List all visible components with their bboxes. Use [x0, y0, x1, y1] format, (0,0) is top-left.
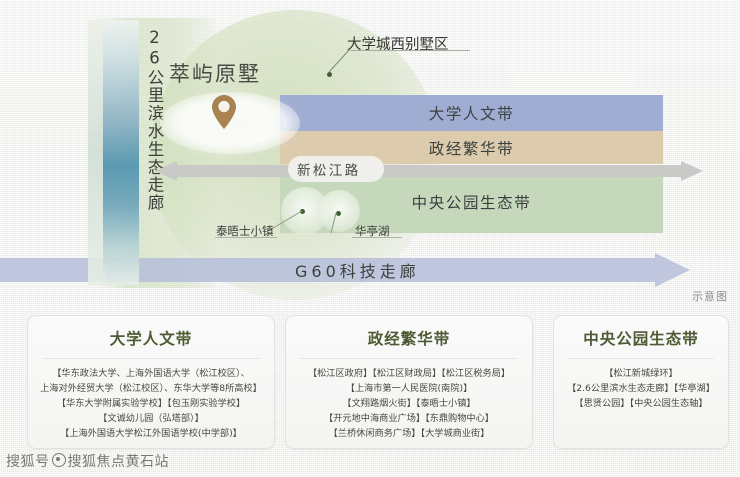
- g60-corridor-label: G60科技走廊: [295, 258, 420, 282]
- belt-detail-cards: 大学人文带 【华东政法大学、上海外国语大学（松江校区）、 上海对外经贸大学（松江…: [0, 315, 740, 455]
- card-line: 【松江新城绿环】: [562, 367, 720, 382]
- watermark-prefix: 搜狐号: [6, 454, 50, 470]
- belt-university-culture: 大学人文带: [280, 95, 663, 131]
- xin-songjiang-road-arrow: [155, 161, 703, 181]
- card-line: 【文诚幼儿园（弘塔部）】: [36, 412, 266, 427]
- thames-town-underline: [215, 237, 277, 238]
- card-university-culture: 大学人文带 【华东政法大学、上海外国语大学（松江校区）、 上海对外经贸大学（松江…: [27, 315, 275, 449]
- card-line: 【上海市第一人民医院(南院)】: [294, 382, 524, 397]
- card-line: 【兰桥休闲商务广场】【大学城商业街】: [294, 427, 524, 442]
- card-line: 【思贤公园】【中央公园生态轴】: [562, 397, 720, 412]
- card-line: 【松江区政府】【松江区财政局】【松江区税务局】: [294, 367, 524, 382]
- card-central-park-eco: 中央公园生态带 【松江新城绿环】 【2.6公里滨水生态走廊】【华亭湖】 【思贤公…: [553, 315, 729, 449]
- belt-university-culture-label: 大学人文带: [280, 102, 663, 124]
- watermark: 搜狐号搜狐焦点黄石站: [6, 451, 169, 471]
- card-government-economy-body: 【松江区政府】【松江区财政局】【松江区税务局】 【上海市第一人民医院(南院)】 …: [286, 359, 532, 442]
- card-line: 【文翔路烟火街】【泰晤士小镇】: [294, 397, 524, 412]
- card-government-economy-title: 政经繁华带: [286, 327, 532, 349]
- card-line: 上海对外经贸大学（松江校区）、东华大学等8所高校】: [36, 382, 266, 397]
- card-central-park-eco-body: 【松江新城绿环】 【2.6公里滨水生态走廊】【华亭湖】 【思贤公园】【中央公园生…: [554, 359, 728, 412]
- card-line: 【华东大学附属实验学校】【包玉刚实验学校】: [36, 397, 266, 412]
- watermark-suffix: 搜狐焦点黄石站: [68, 454, 170, 470]
- site-position-diagram: G60科技走廊 26公里滨水生态走廊 大学人文带 政经繁华带 中央公园生态带 新…: [0, 0, 740, 305]
- villa-district-label: 大学城西别墅区: [347, 33, 449, 54]
- card-government-economy: 政经繁华带 【松江区政府】【松江区财政局】【松江区税务局】 【上海市第一人民医院…: [285, 315, 533, 449]
- diagram-note: 示意图: [692, 288, 728, 304]
- card-university-culture-title: 大学人文带: [28, 327, 274, 349]
- project-name-label: 萃屿原墅: [169, 58, 261, 88]
- at-symbol-icon: [52, 453, 66, 467]
- card-line: 【上海外国语大学松江外国语学校(中学部)】: [36, 427, 266, 442]
- card-line: 【华东政法大学、上海外国语大学（松江校区）、: [36, 367, 266, 382]
- card-central-park-eco-title: 中央公园生态带: [554, 327, 728, 349]
- card-line: 【2.6公里滨水生态走廊】【华亭湖】: [562, 382, 720, 397]
- map-pin-icon: [212, 95, 236, 129]
- huating-lake-underline: [352, 237, 402, 238]
- huating-lake-leader-line: [330, 211, 352, 235]
- waterfront-band-label: 26公里滨水生态走廊: [134, 28, 162, 278]
- card-university-culture-body: 【华东政法大学、上海外国语大学（松江校区）、 上海对外经贸大学（松江校区）、东华…: [28, 359, 274, 442]
- xin-songjiang-road-label: 新松江路: [297, 159, 361, 179]
- card-line: 【开元地中海商业广场】【东鼎购物中心】: [294, 412, 524, 427]
